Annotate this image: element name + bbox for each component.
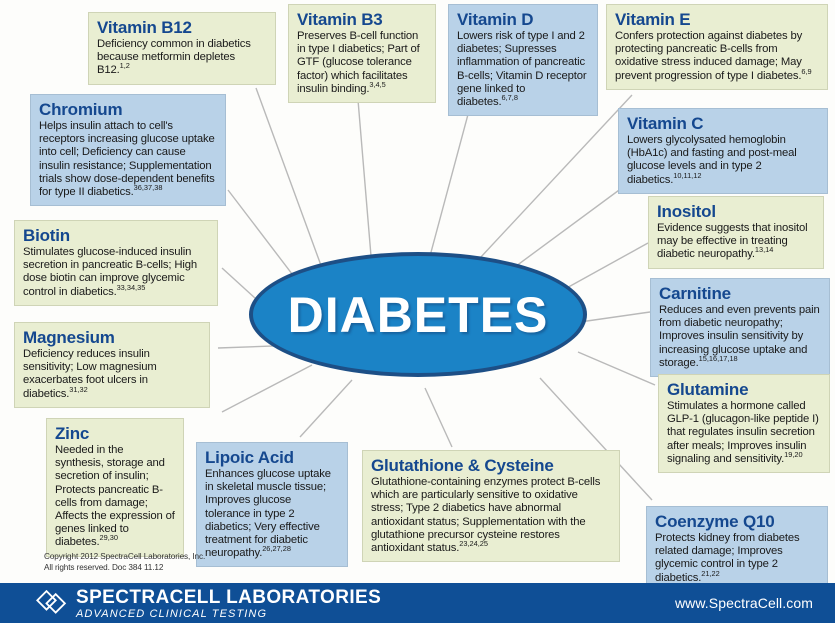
node-title: Vitamin C bbox=[627, 114, 819, 133]
node-zinc[interactable]: Zinc Needed in the synthesis, storage an… bbox=[46, 418, 184, 557]
node-glutamine[interactable]: Glutamine Stimulates a hormone called GL… bbox=[658, 374, 830, 473]
brand-tagline: ADVANCED CLINICAL TESTING bbox=[76, 608, 381, 621]
copyright-line-2: All rights reserved. Doc 384 11.12 bbox=[44, 563, 205, 574]
node-body: Protects kidney from diabetes related da… bbox=[655, 532, 819, 585]
node-body: Stimulates a hormone called GLP-1 (gluca… bbox=[667, 400, 821, 466]
website-link[interactable]: www.SpectraCell.com bbox=[675, 595, 813, 611]
node-title: Vitamin B3 bbox=[297, 10, 427, 29]
node-inositol[interactable]: Inositol Evidence suggests that inositol… bbox=[648, 196, 824, 269]
node-title: Inositol bbox=[657, 202, 815, 221]
copyright-note: Copyright 2012 SpectraCell Laboratories,… bbox=[44, 552, 205, 573]
node-carnitine[interactable]: Carnitine Reduces and even prevents pain… bbox=[650, 278, 830, 377]
node-body: Lowers glycolysated hemoglobin (HbA1c) a… bbox=[627, 134, 819, 187]
node-coenzyme-q10[interactable]: Coenzyme Q10 Protects kidney from diabet… bbox=[646, 506, 828, 592]
footer-bar: SPECTRACELL LABORATORIES ADVANCED CLINIC… bbox=[0, 583, 835, 623]
node-body: Lowers risk of type I and 2 diabetes; Su… bbox=[457, 30, 589, 109]
node-body: Glutathione-containing enzymes protect B… bbox=[371, 476, 611, 555]
node-body: Preserves B-cell function in type I diab… bbox=[297, 30, 427, 96]
connector-vitamin-d bbox=[430, 107, 470, 256]
node-vitamin-b3[interactable]: Vitamin B3 Preserves B-cell function in … bbox=[288, 4, 436, 103]
node-vitamin-d[interactable]: Vitamin D Lowers risk of type I and 2 di… bbox=[448, 4, 598, 116]
connector-lipoic-acid bbox=[300, 380, 352, 437]
node-body: Helps insulin attach to cell's receptors… bbox=[39, 120, 217, 199]
node-body: Stimulates glucose-induced insulin secre… bbox=[23, 246, 209, 299]
node-chromium[interactable]: Chromium Helps insulin attach to cell's … bbox=[30, 94, 226, 206]
node-title: Vitamin D bbox=[457, 10, 589, 29]
connector-vitamin-e bbox=[480, 95, 632, 258]
node-vitamin-c[interactable]: Vitamin C Lowers glycolysated hemoglobin… bbox=[618, 108, 828, 194]
node-title: Lipoic Acid bbox=[205, 448, 339, 467]
connector-zinc bbox=[222, 365, 312, 412]
node-body: Evidence suggests that inositol may be e… bbox=[657, 222, 815, 262]
node-title: Vitamin E bbox=[615, 10, 819, 29]
node-vitamin-e[interactable]: Vitamin E Confers protection against dia… bbox=[606, 4, 828, 90]
node-biotin[interactable]: Biotin Stimulates glucose-induced insuli… bbox=[14, 220, 218, 306]
connector-glutamine bbox=[578, 352, 655, 385]
connector-glutathione bbox=[425, 388, 452, 447]
node-vitamin-b12[interactable]: Vitamin B12 Deficiency common in diabeti… bbox=[88, 12, 276, 85]
node-title: Magnesium bbox=[23, 328, 201, 347]
node-glutathione-cysteine[interactable]: Glutathione & Cysteine Glutathione-conta… bbox=[362, 450, 620, 562]
node-body: Deficiency common in diabetics because m… bbox=[97, 38, 267, 78]
node-body: Deficiency reduces insulin sensitivity; … bbox=[23, 348, 201, 401]
infographic-canvas: DIABETES Vitamin B12 Deficiency common i… bbox=[0, 0, 835, 623]
node-body: Needed in the synthesis, storage and sec… bbox=[55, 444, 175, 550]
brand-name: SPECTRACELL LABORATORIES bbox=[76, 588, 381, 608]
node-body: Enhances glucose uptake in skeletal musc… bbox=[205, 468, 339, 560]
node-title: Vitamin B12 bbox=[97, 18, 267, 37]
spectracell-diamond-logo-icon bbox=[36, 590, 70, 616]
node-title: Glutathione & Cysteine bbox=[371, 456, 611, 475]
brand-block: SPECTRACELL LABORATORIES ADVANCED CLINIC… bbox=[76, 588, 381, 621]
node-title: Biotin bbox=[23, 226, 209, 245]
node-title: Chromium bbox=[39, 100, 217, 119]
connector-vitamin-c bbox=[508, 182, 630, 272]
node-title: Glutamine bbox=[667, 380, 821, 399]
node-title: Coenzyme Q10 bbox=[655, 512, 819, 531]
hub-label: DIABETES bbox=[288, 286, 549, 344]
connector-vitamin-b12 bbox=[256, 88, 330, 290]
node-body: Confers protection against diabetes by p… bbox=[615, 30, 819, 83]
node-magnesium[interactable]: Magnesium Deficiency reduces insulin sen… bbox=[14, 322, 210, 408]
copyright-line-1: Copyright 2012 SpectraCell Laboratories,… bbox=[44, 552, 205, 563]
node-body: Reduces and even prevents pain from diab… bbox=[659, 304, 821, 370]
node-title: Zinc bbox=[55, 424, 175, 443]
node-title: Carnitine bbox=[659, 284, 821, 303]
node-lipoic-acid[interactable]: Lipoic Acid Enhances glucose uptake in s… bbox=[196, 442, 348, 567]
central-hub: DIABETES bbox=[249, 252, 587, 377]
connector-carnitine bbox=[580, 312, 650, 322]
connector-vitamin-b3 bbox=[358, 100, 372, 268]
